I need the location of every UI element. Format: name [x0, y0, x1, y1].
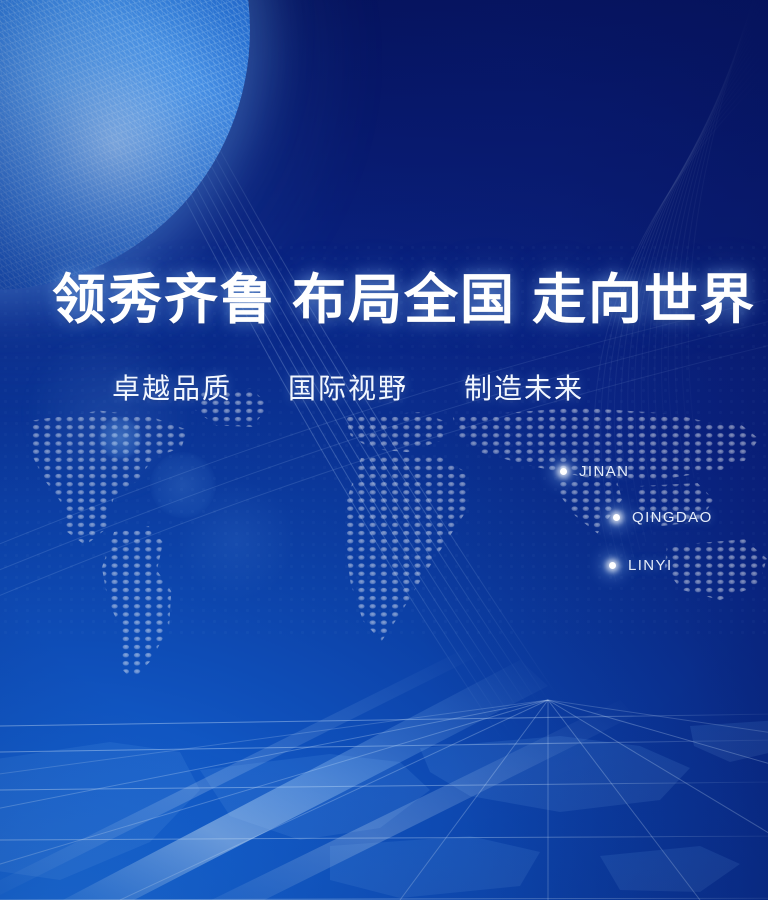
hero-banner: 领秀齐鲁布局全国走向世界 卓越品质国际视野制造未来 JINAN QINGDAO …: [0, 0, 768, 900]
headline-part-1: 领秀齐鲁: [52, 267, 276, 331]
subtitle-part-1: 卓越品质: [112, 372, 232, 405]
city-label-linyi: LINYI: [628, 557, 673, 574]
city-marker-dot-icon: [613, 514, 620, 521]
headline-part-2: 布局全国: [292, 267, 516, 331]
city-label-jinan: JINAN: [579, 463, 629, 480]
city-marker-dot-icon: [560, 468, 567, 475]
page-subtitle: 卓越品质国际视野制造未来: [112, 371, 584, 407]
city-marker-jinan[interactable]: JINAN: [560, 463, 629, 480]
subtitle-part-2: 国际视野: [288, 372, 408, 405]
page-title: 领秀齐鲁布局全国走向世界: [52, 268, 756, 330]
city-label-qingdao: QINGDAO: [632, 509, 713, 526]
headline-part-3: 走向世界: [532, 267, 756, 331]
city-marker-dot-icon: [609, 562, 616, 569]
subtitle-part-3: 制造未来: [464, 372, 584, 405]
city-marker-qingdao[interactable]: QINGDAO: [613, 509, 713, 526]
city-marker-linyi[interactable]: LINYI: [609, 557, 673, 574]
